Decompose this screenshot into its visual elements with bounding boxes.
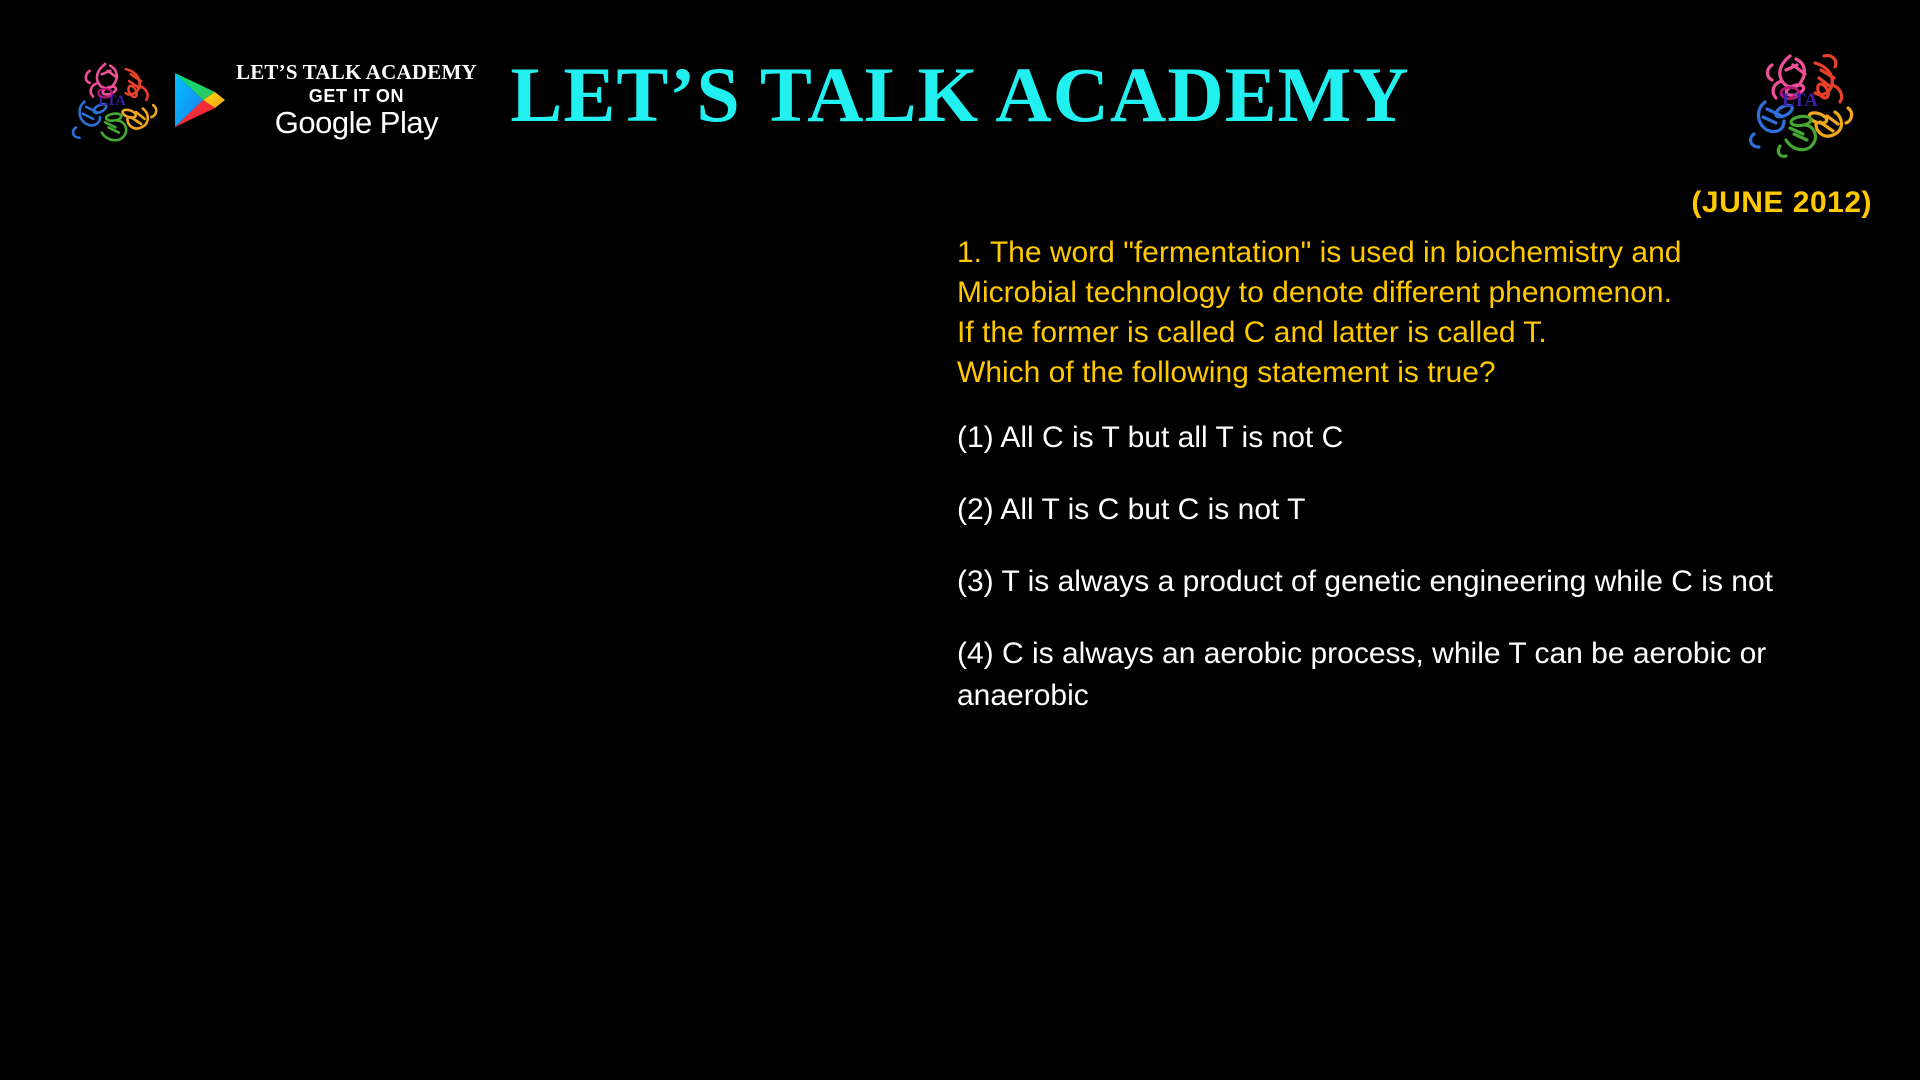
exam-session-badge: (JUNE 2012) — [1691, 186, 1872, 220]
slide-root: LTA — [0, 0, 1920, 1080]
question-stem-line-1: 1. The word "fermentation" is used in bi… — [957, 233, 1897, 273]
slide-header: LTA — [0, 0, 1920, 180]
answer-option-2[interactable]: (2) All T is C but C is not T — [957, 489, 1897, 531]
answer-option-3[interactable]: (3) T is always a product of genetic eng… — [957, 561, 1897, 603]
answer-options-list: (1) All C is T but all T is not C (2) Al… — [957, 417, 1897, 717]
answer-option-1[interactable]: (1) All C is T but all T is not C — [957, 417, 1897, 459]
question-stem: 1. The word "fermentation" is used in bi… — [957, 233, 1897, 393]
question-stem-line-4: Which of the following statement is true… — [957, 353, 1897, 393]
question-stem-line-3: If the former is called C and latter is … — [957, 313, 1897, 353]
question-stem-line-2: Microbial technology to denote different… — [957, 273, 1897, 313]
page-title: LET’S TALK ACADEMY — [0, 56, 1920, 134]
answer-option-4[interactable]: (4) C is always an aerobic process, whil… — [957, 633, 1897, 717]
svg-text:LTA: LTA — [1782, 90, 1818, 111]
lta-protein-ring-logo-icon-right: LTA — [1736, 42, 1860, 158]
question-panel: 1. The word "fermentation" is used in bi… — [957, 233, 1897, 717]
